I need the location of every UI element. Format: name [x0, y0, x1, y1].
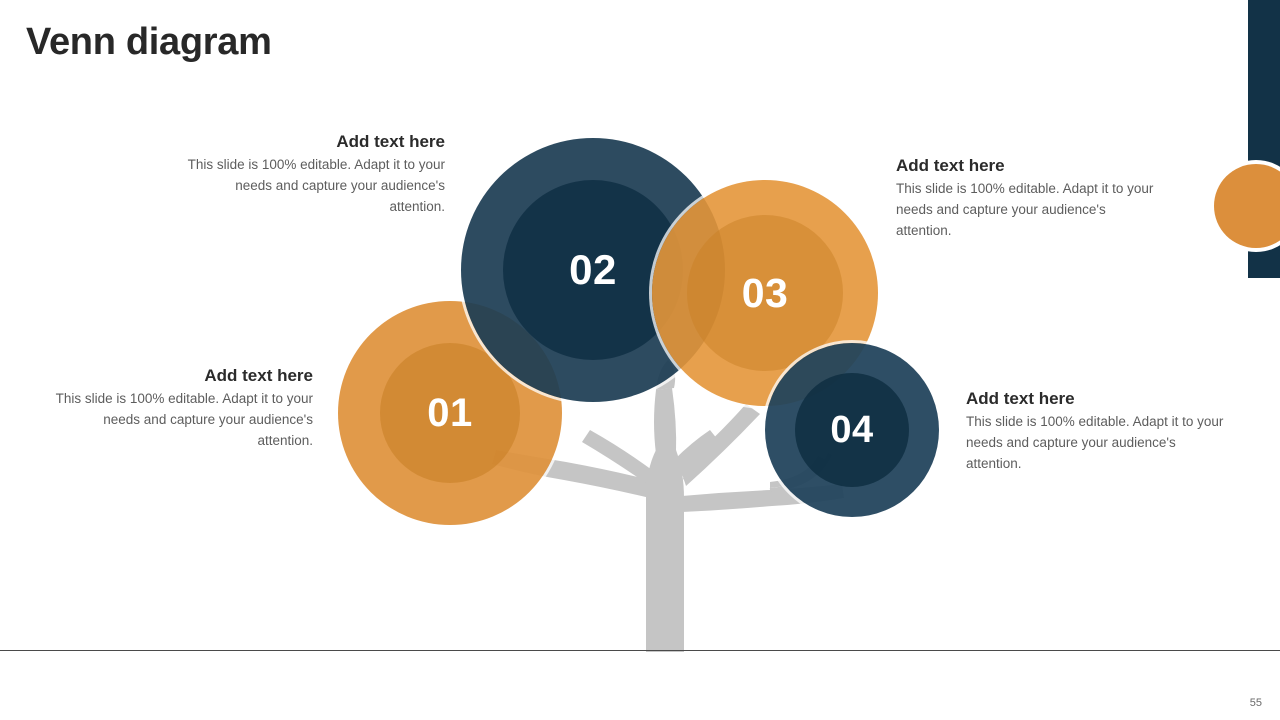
venn-circle-04[interactable]: 04 — [765, 343, 939, 517]
callout-04: Add text here This slide is 100% editabl… — [966, 388, 1231, 475]
callout-01-title: Add text here — [48, 365, 313, 386]
callout-03-title: Add text here — [896, 155, 1161, 176]
footer-divider — [0, 650, 1280, 651]
slide-canvas: Venn diagram — [0, 0, 1280, 720]
venn-number-01: 01 — [427, 391, 473, 436]
callout-01-body: This slide is 100% editable. Adapt it to… — [48, 389, 313, 452]
venn-number-02: 02 — [569, 246, 617, 294]
callout-02: Add text here This slide is 100% editabl… — [180, 131, 445, 218]
venn-number-03: 03 — [742, 270, 789, 317]
callout-02-body: This slide is 100% editable. Adapt it to… — [180, 155, 445, 218]
callout-04-body: This slide is 100% editable. Adapt it to… — [966, 412, 1231, 475]
page-number: 55 — [1250, 697, 1262, 709]
venn-circle-group: 01 02 03 04 — [0, 0, 1280, 720]
venn-number-04: 04 — [830, 409, 873, 452]
callout-03-body: This slide is 100% editable. Adapt it to… — [896, 179, 1161, 242]
callout-04-title: Add text here — [966, 388, 1231, 409]
callout-02-title: Add text here — [180, 131, 445, 152]
callout-03: Add text here This slide is 100% editabl… — [896, 155, 1161, 242]
callout-01: Add text here This slide is 100% editabl… — [48, 365, 313, 452]
